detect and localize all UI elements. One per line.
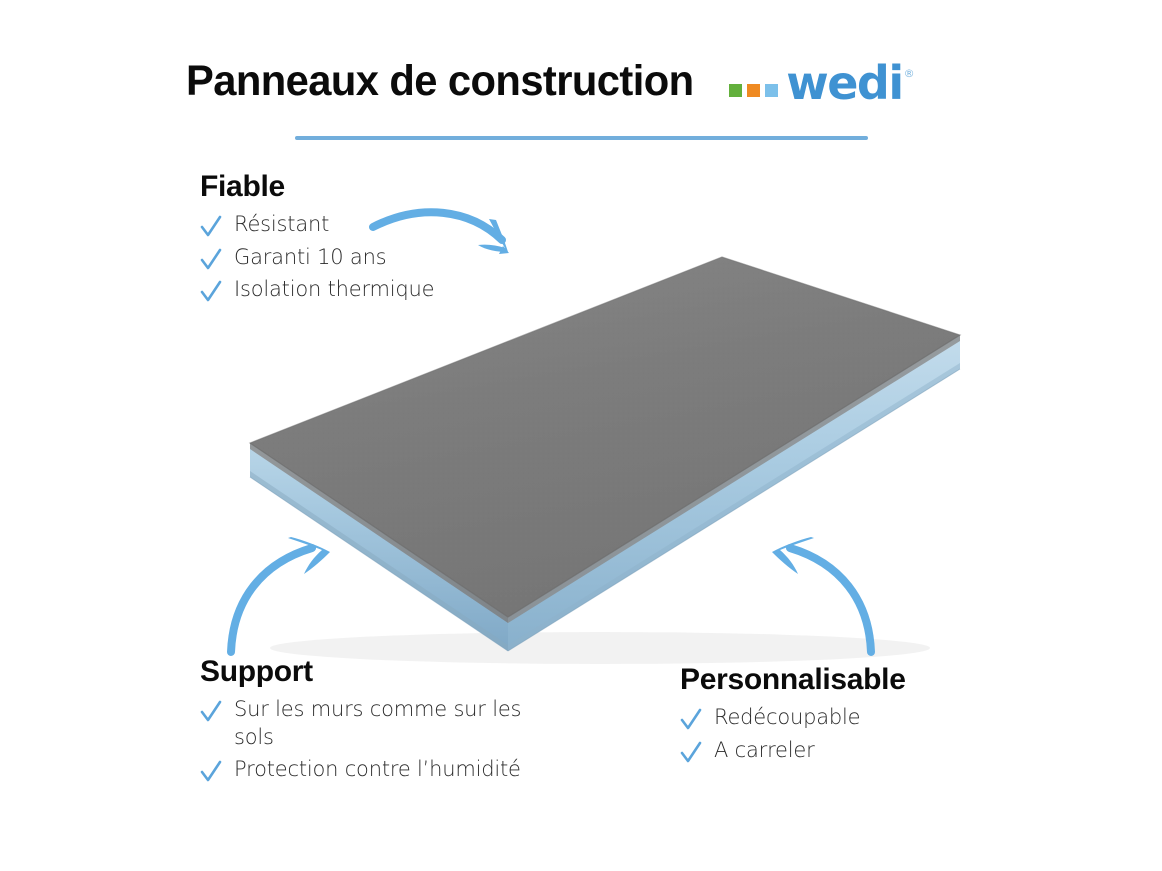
list-item-label: Garanti 10 ans [234,244,386,272]
feature-heading-support: Support [200,655,534,688]
list-item-label: Sur les murs comme sur les sols [234,696,534,751]
logo-wordmark-text: wedi [786,56,902,110]
feature-block-fiable: Fiable Résistant Garanti 10 ans Isolatio… [200,170,434,309]
panel-edge-line-right [508,335,960,617]
panel-core-right-edge [508,335,960,651]
panel-top-texture [250,257,960,617]
logo-square-blue-icon [765,84,778,97]
check-icon [680,707,702,733]
logo-squares-icon [729,84,778,97]
panel-skin-right [508,335,960,623]
logo-square-green-icon [729,84,742,97]
check-icon [680,740,702,766]
title-divider [295,136,868,140]
feature-block-personnalisable: Personnalisable Redécoupable A carreler [680,663,906,769]
list-item: Sur les murs comme sur les sols [200,696,534,751]
check-icon [200,214,222,240]
header: Panneaux de construction wedi® [0,58,1162,158]
logo-registered-mark: ® [904,67,914,80]
panel-core-left-edge [250,443,508,651]
title-row: Panneaux de construction wedi® [186,58,912,104]
list-item-label: Redécoupable [714,704,860,732]
list-item: Garanti 10 ans [200,244,434,272]
panel-top-surface [250,257,960,617]
list-item: Redécoupable [680,704,906,732]
list-item: Protection contre l’humidité [200,756,534,784]
panel-top-outline [250,257,960,617]
list-item-label: Isolation thermique [234,276,434,304]
list-item-label: Résistant [234,211,329,239]
list-item: A carreler [680,737,906,765]
wedi-logo: wedi® [729,60,912,106]
check-icon [200,247,222,273]
arrow-bottom-left-icon [231,537,330,652]
arrow-bottom-right-icon [772,537,871,652]
list-item-label: Protection contre l’humidité [234,756,521,784]
check-icon [200,279,222,305]
infographic-canvas: Panneaux de construction wedi® [0,0,1162,871]
panel-edge-line-left [250,443,508,617]
feature-heading-fiable: Fiable [200,170,434,203]
list-item: Isolation thermique [200,276,434,304]
logo-square-orange-icon [747,84,760,97]
check-icon [200,699,222,725]
panel-skin-left-bottom [250,471,508,651]
feature-block-support: Support Sur les murs comme sur les sols … [200,655,534,789]
list-item: Résistant [200,211,434,239]
logo-wordmark: wedi® [786,60,912,106]
panel-skin-left [250,443,508,623]
page-title: Panneaux de construction [186,60,694,103]
panel-skin-right-bottom [508,363,960,651]
panel-bottom-line-left [250,477,508,651]
check-icon [200,759,222,785]
list-item-label: A carreler [714,737,815,765]
feature-heading-personnalisable: Personnalisable [680,663,906,696]
panel-bottom-line-right [508,369,960,651]
